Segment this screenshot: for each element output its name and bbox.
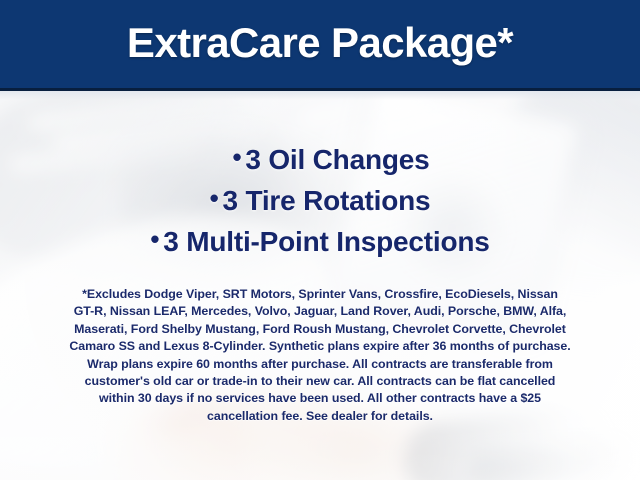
benefits-list: •3 Oil Changes •3 Tire Rotations •3 Mult… — [0, 138, 640, 261]
benefit-item-label: 3 Oil Changes — [245, 144, 429, 175]
disclaimer-line: customer's old car or trade-in to their … — [34, 373, 606, 390]
header-banner: ExtraCare Package* — [0, 0, 640, 88]
benefit-item-tire-rotations: •3 Tire Rotations — [0, 179, 640, 220]
extracare-package-promo-card: ExtraCare Package* •3 Oil Changes •3 Tir… — [0, 0, 640, 480]
page-title: ExtraCare Package* — [127, 22, 513, 66]
disclaimer-fine-print: *Excludes Dodge Viper, SRT Motors, Sprin… — [34, 286, 606, 425]
disclaimer-line: Wrap plans expire 60 months after purcha… — [34, 356, 606, 373]
disclaimer-line: Camaro SS and Lexus 8-Cylinder. Syntheti… — [34, 338, 606, 355]
bullet-dot-icon: • — [210, 183, 223, 213]
benefit-item-oil-changes: •3 Oil Changes — [0, 138, 640, 179]
disclaimer-line: cancellation fee. See dealer for details… — [34, 408, 606, 425]
benefit-item-multi-point-inspections: •3 Multi-Point Inspections — [0, 220, 640, 261]
benefit-item-label: 3 Multi-Point Inspections — [163, 226, 489, 257]
disclaimer-line: *Excludes Dodge Viper, SRT Motors, Sprin… — [34, 286, 606, 303]
benefit-item-label: 3 Tire Rotations — [223, 185, 431, 216]
bullet-dot-icon: • — [232, 142, 245, 172]
disclaimer-line: within 30 days if no services have been … — [34, 390, 606, 407]
header-divider-rule — [0, 88, 640, 91]
bullet-dot-icon: • — [150, 224, 163, 254]
disclaimer-line: Maserati, Ford Shelby Mustang, Ford Rous… — [34, 321, 606, 338]
disclaimer-line: GT-R, Nissan LEAF, Mercedes, Volvo, Jagu… — [34, 303, 606, 320]
header-underglow — [0, 91, 640, 100]
